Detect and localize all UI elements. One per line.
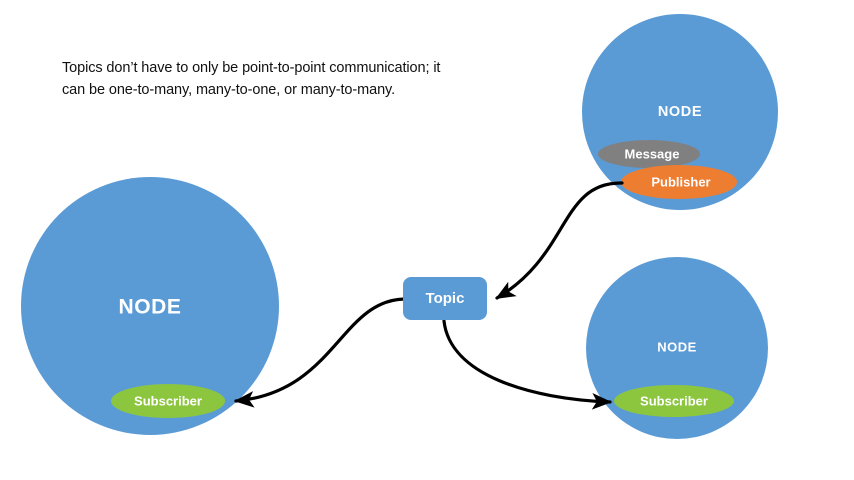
slide-canvas: Topics don’t have to only be point-to-po… xyxy=(0,0,854,480)
publisher-pill-label: Publisher xyxy=(651,174,710,189)
topic-label: Topic xyxy=(426,290,465,307)
node-publisher-top-right[interactable]: NODE Message Publisher xyxy=(582,14,778,210)
arrow-topic-to-bottom-right-subscriber xyxy=(444,321,610,402)
subscriber-pill-label-left: Subscriber xyxy=(134,393,202,408)
node-label-top-right: NODE xyxy=(658,104,702,120)
node-subscriber-bottom-right[interactable]: NODE Subscriber xyxy=(586,257,768,439)
subscriber-pill-label-bottom-right: Subscriber xyxy=(640,393,708,408)
node-subscriber-left[interactable]: NODE Subscriber xyxy=(21,177,279,435)
topic-box[interactable]: Topic xyxy=(403,277,487,320)
topics-diagram: NODE Subscriber NODE Message Publisher N… xyxy=(0,0,854,480)
arrow-publisher-to-topic xyxy=(497,183,622,298)
node-label-bottom-right: NODE xyxy=(657,339,697,354)
message-pill-label: Message xyxy=(625,146,680,161)
node-label-left: NODE xyxy=(118,296,181,319)
